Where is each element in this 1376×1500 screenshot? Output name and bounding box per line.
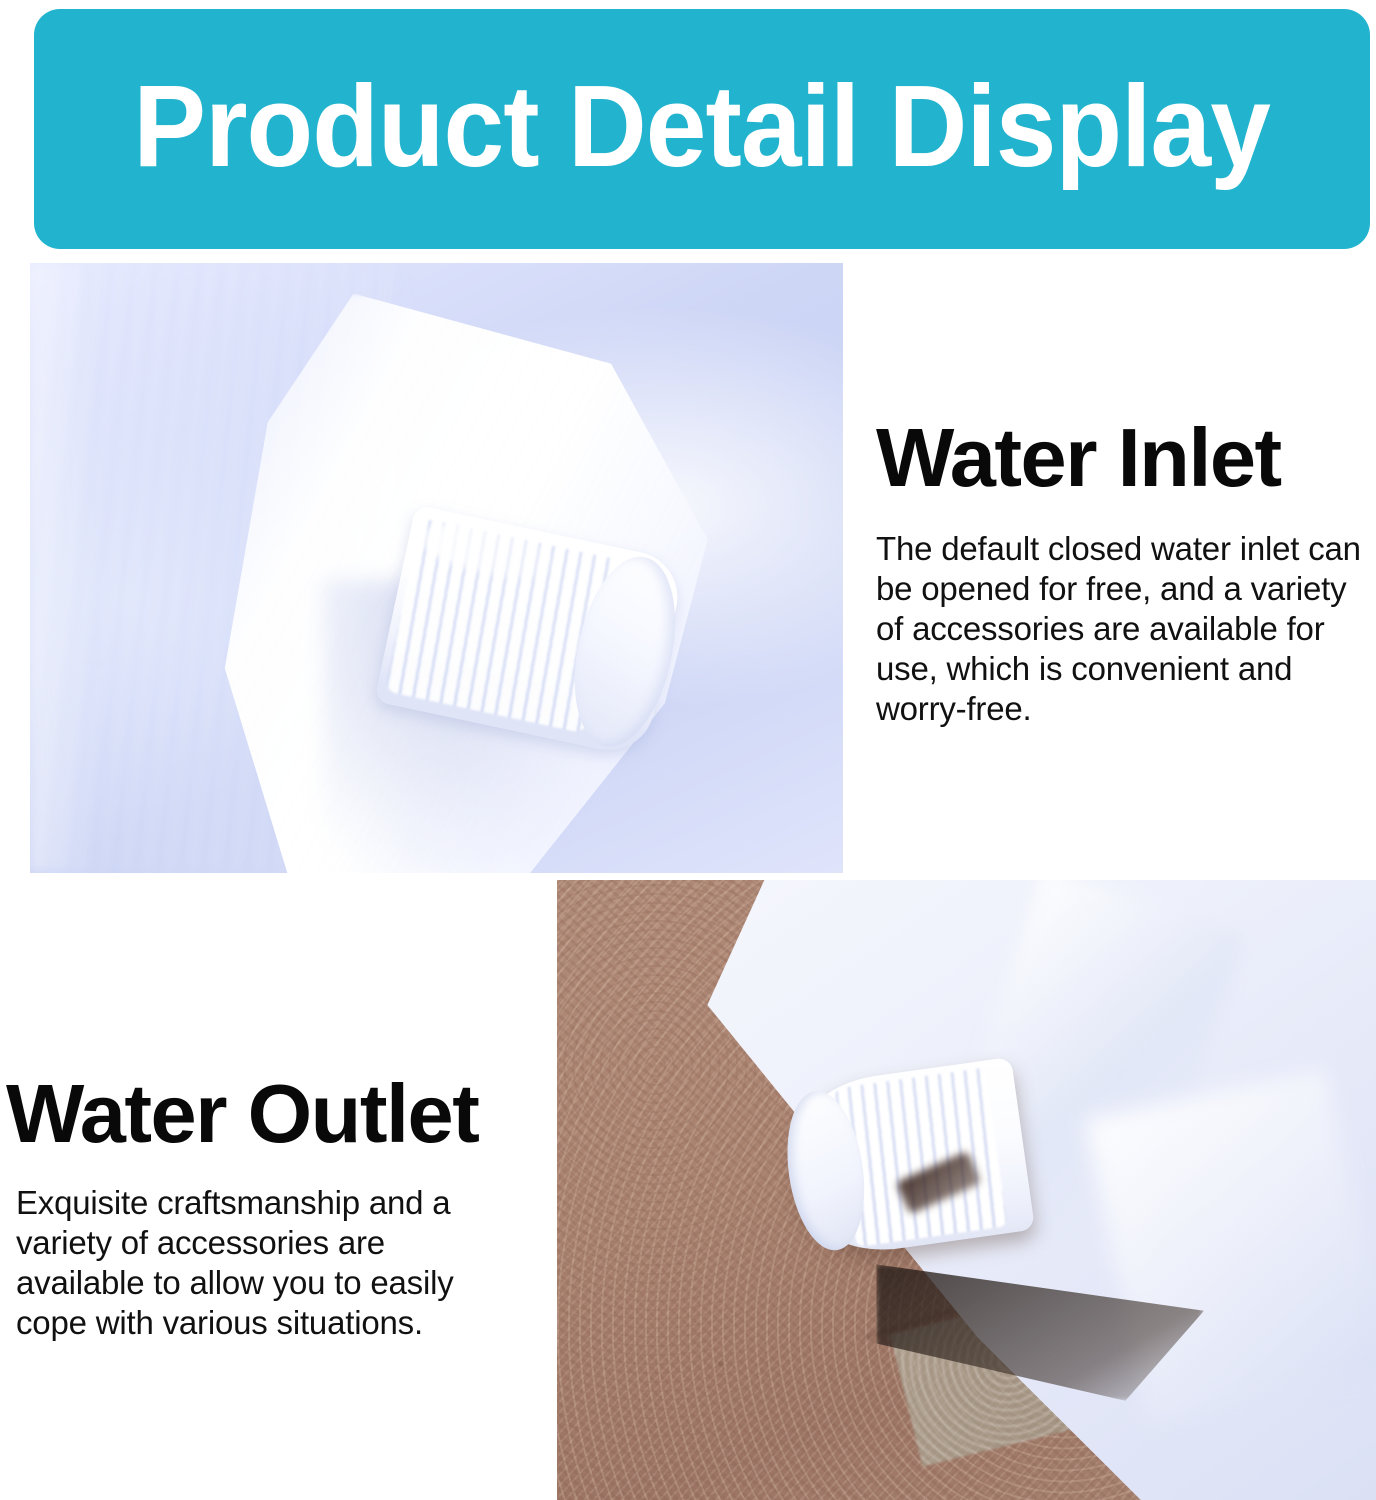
product-detail-page: Product Detail Display Water Inlet The d… — [0, 0, 1376, 1500]
water-inlet-photo — [30, 263, 843, 873]
page-header-banner: Product Detail Display — [34, 9, 1370, 249]
water-inlet-description: The default closed water inlet can be op… — [876, 529, 1376, 729]
water-outlet-description: Exquisite craftsmanship and a variety of… — [16, 1183, 468, 1343]
water-outlet-photo — [557, 880, 1376, 1500]
water-outlet-heading: Water Outlet — [6, 1072, 546, 1157]
water-inlet-heading: Water Inlet — [876, 416, 1376, 501]
water-inlet-text-block: Water Inlet The default closed water inl… — [876, 416, 1376, 729]
water-outlet-spout — [784, 1057, 1035, 1261]
page-title: Product Detail Display — [134, 68, 1271, 190]
water-outlet-text-block: Water Outlet Exquisite craftsmanship and… — [6, 1072, 546, 1343]
